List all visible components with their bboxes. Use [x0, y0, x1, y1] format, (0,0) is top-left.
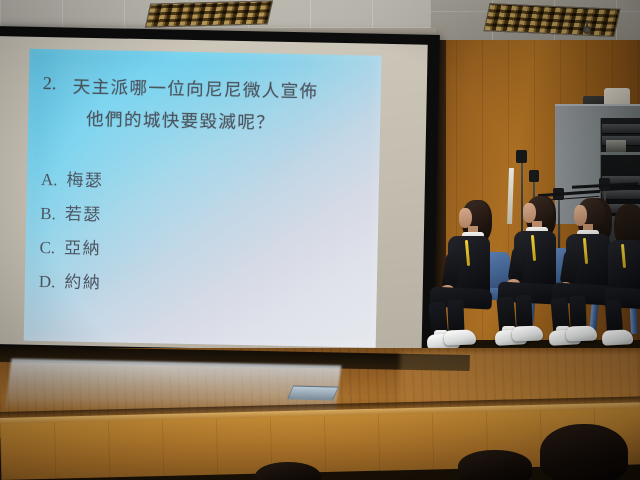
option-c-text: 亞納	[64, 238, 101, 258]
question-line-1: 天主派哪一位向尼尼微人宣佈	[73, 74, 319, 104]
sprinkler-icon	[583, 26, 591, 34]
face	[459, 208, 472, 228]
audience-head	[540, 424, 628, 480]
shoe	[512, 325, 544, 341]
option-d-label: D.	[39, 272, 56, 291]
option-c-label: C.	[39, 238, 55, 257]
question-line-2: 他們的城快要毀滅呢？	[86, 106, 275, 135]
option-b-text: 若瑟	[65, 204, 102, 224]
audience-head	[458, 450, 532, 480]
microphone-icon	[529, 170, 539, 182]
answer-option-b: B.若瑟	[40, 199, 102, 225]
projected-slide: 2. 天主派哪一位向尼尼微人宣佈 他們的城快要毀滅呢？ A.梅瑟 B.若瑟 C.…	[24, 49, 382, 348]
slide-text-block: 2. 天主派哪一位向尼尼微人宣佈 他們的城快要毀滅呢？ A.梅瑟 B.若瑟 C.…	[24, 49, 382, 348]
question-number: 2.	[43, 73, 57, 94]
option-b-label: B.	[40, 204, 56, 223]
answer-option-a: A.梅瑟	[41, 165, 104, 191]
floor-vent	[287, 385, 339, 400]
louver-grid	[146, 1, 272, 26]
shoe	[444, 329, 477, 345]
answer-option-c: C.亞納	[39, 233, 101, 259]
rack-shelf	[600, 152, 640, 155]
ceiling-light-icon	[145, 0, 273, 27]
answer-option-d: D.約納	[39, 267, 102, 293]
option-a-label: A.	[41, 170, 58, 189]
microphone-icon	[516, 150, 527, 163]
option-a-text: 梅瑟	[66, 170, 103, 190]
face	[523, 203, 536, 223]
projection-screen: 2. 天主派哪一位向尼尼微人宣佈 他們的城快要毀滅呢？ A.梅瑟 B.若瑟 C.…	[0, 26, 440, 365]
screen-surface: 2. 天主派哪一位向尼尼微人宣佈 他們的城快要毀滅呢？ A.梅瑟 B.若瑟 C.…	[0, 36, 428, 353]
louver-grid	[485, 4, 620, 36]
shoe	[566, 325, 598, 341]
rack-unit	[602, 124, 640, 134]
face	[574, 205, 587, 226]
shoe	[602, 329, 634, 346]
ceiling-light-icon	[483, 3, 620, 37]
rack-unit	[602, 190, 640, 200]
option-d-text: 約納	[64, 272, 101, 292]
rack-device	[606, 140, 626, 152]
photo-scene: 2. 天主派哪一位向尼尼微人宣佈 他們的城快要毀滅呢？ A.梅瑟 B.若瑟 C.…	[0, 0, 640, 480]
